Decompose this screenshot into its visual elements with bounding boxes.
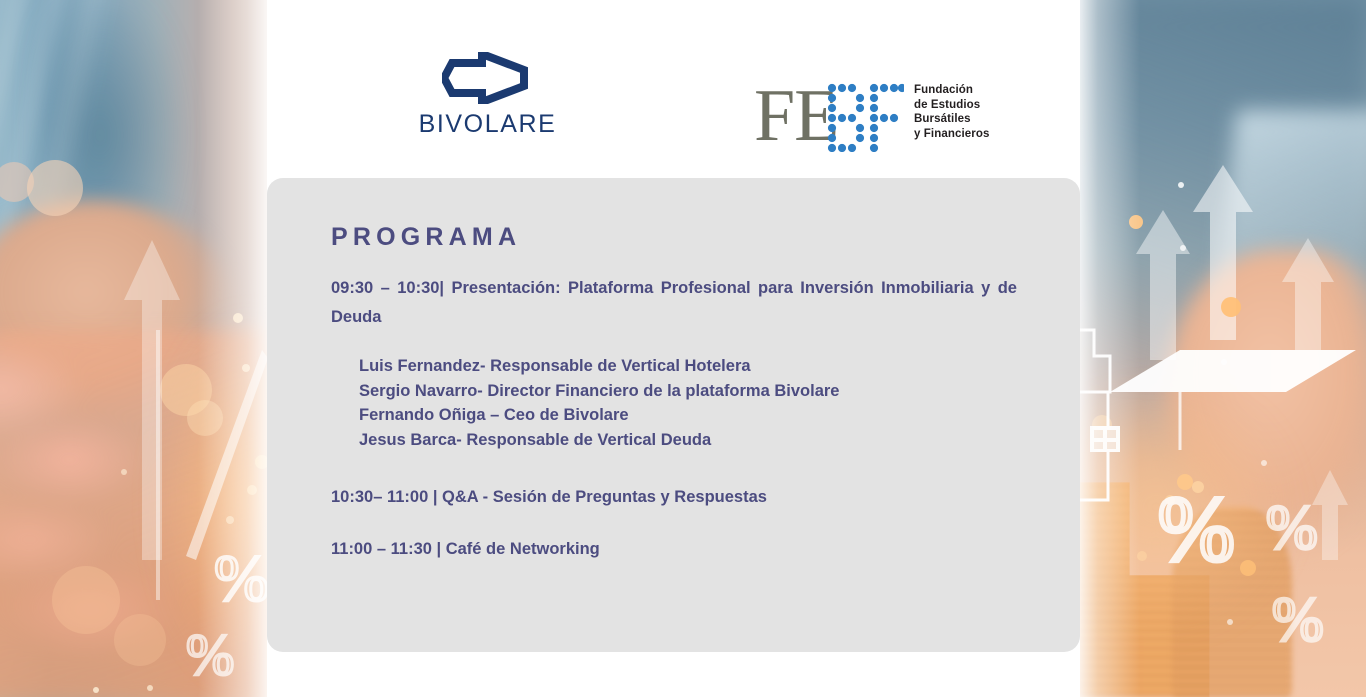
up-arrow-icon-small xyxy=(156,330,160,600)
list-item: Sergio Navarro- Director Financiero de l… xyxy=(359,379,1017,404)
febf-tagline: Fundación de Estudios Bursátiles y Finan… xyxy=(914,80,989,141)
febf-dot-f xyxy=(870,84,904,152)
page-title: PROGRAMA xyxy=(331,225,521,250)
percent-sign-icon-small: % xyxy=(1272,586,1324,654)
svg-text:FE: FE xyxy=(754,80,838,152)
list-item: Fernando Oñiga – Ceo de Bivolare xyxy=(359,403,1017,428)
right-background-photo: % % % xyxy=(1080,0,1366,697)
logo-header-band: BIVOLARE FE xyxy=(267,0,1080,178)
left-edge-fade xyxy=(198,0,268,697)
bivolare-hexagon-arrow-mark xyxy=(442,52,534,104)
list-item: Jesus Barca- Responsable de Vertical Deu… xyxy=(359,428,1017,453)
up-arrow-icon-small xyxy=(1282,238,1334,350)
febf-lettermark: FE xyxy=(754,80,904,152)
program-poster: % % xyxy=(0,0,1366,697)
program-panel: PROGRAMA 09:30 – 10:30| Presentación: Pl… xyxy=(267,178,1080,652)
up-arrow-icon-medium xyxy=(1136,210,1190,360)
list-item: Luis Fernandez- Responsable de Vertical … xyxy=(359,354,1017,379)
percent-sign-icon-large: % xyxy=(1158,478,1235,580)
content-column: BIVOLARE FE xyxy=(267,0,1080,697)
febf-logo: FE xyxy=(754,80,989,152)
bivolare-logo: BIVOLARE xyxy=(405,52,570,137)
percent-sign-icon-medium: % xyxy=(1266,494,1318,562)
schedule-list: 09:30 – 10:30| Presentación: Plataforma … xyxy=(331,274,1017,560)
session-coffee: 11:00 – 11:30 | Café de Networking xyxy=(331,540,1017,560)
left-background-photo: % % xyxy=(0,0,268,697)
up-arrow-icon-large xyxy=(1193,165,1253,340)
session-heading: 09:30 – 10:30| Presentación: Plataforma … xyxy=(331,274,1017,332)
speaker-list: Luis Fernandez- Responsable de Vertical … xyxy=(331,354,1017,452)
right-edge-fade xyxy=(1080,0,1140,697)
bivolare-wordmark: BIVOLARE xyxy=(405,112,570,137)
session-qa: 10:30– 11:00 | Q&A - Sesión de Preguntas… xyxy=(331,488,1017,508)
